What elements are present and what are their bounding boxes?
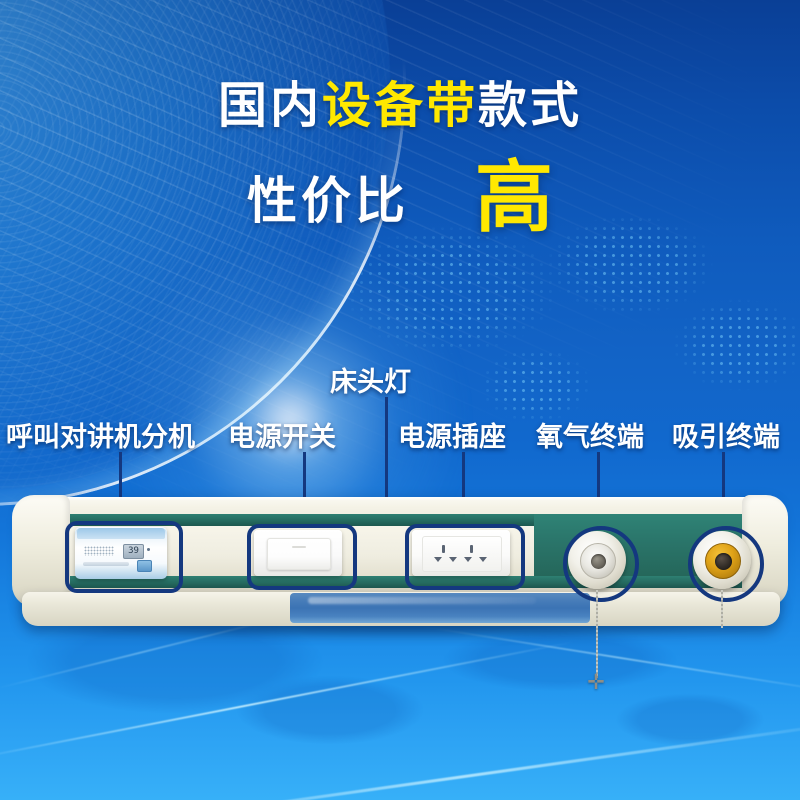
panel-end-cap-left [12,495,70,607]
callout-label-suction-terminal: 吸引终端 [672,415,780,454]
callout-label-intercom: 呼叫对讲机分机 [6,415,195,454]
callout-label-bed-lamp: 床头灯 [330,360,411,399]
highlight-ring-suction-terminal [688,526,764,602]
highlight-box-power-switch [247,524,357,590]
callout-group: 呼叫对讲机分机 电源开关 床头灯 电源插座 氧气终端 吸引终端 [0,0,800,800]
highlight-box-power-socket [405,524,525,590]
highlight-box-intercom [65,521,183,593]
product-banner: 国内设备带款式 性价比 高 呼叫对讲机分机 电源开关 床头灯 电源插座 氧气终端… [0,0,800,800]
cord-connector-icon: ✛ [585,672,607,694]
callout-label-power-switch: 电源开关 [228,415,336,454]
suction-hose-cord [721,590,723,628]
highlight-ring-oxygen-terminal [563,526,639,602]
callout-label-oxygen-terminal: 氧气终端 [536,415,644,454]
panel-light-diffuser [290,593,590,623]
oxygen-hose-cord [596,590,598,678]
callout-label-power-socket: 电源插座 [398,415,506,454]
